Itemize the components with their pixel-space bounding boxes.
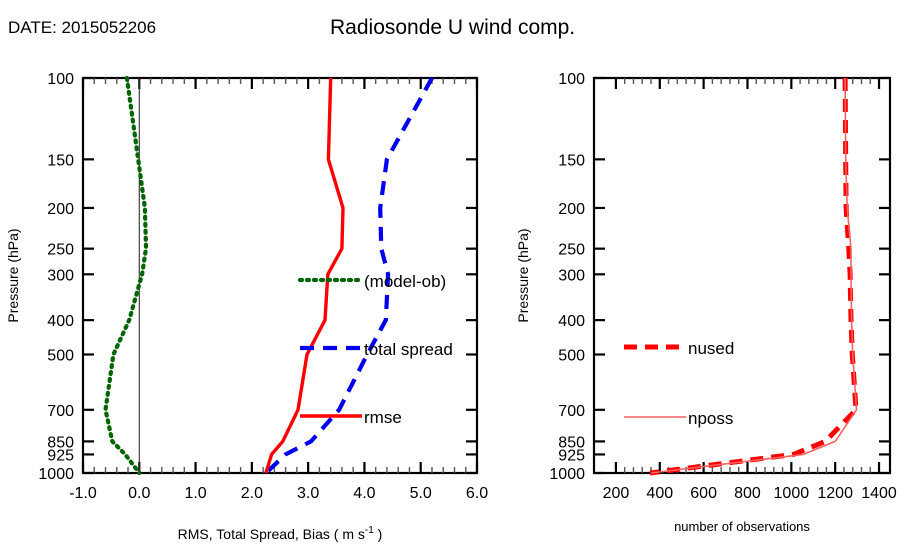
y-tick-label: 400 bbox=[47, 313, 74, 330]
x-tick-label: 1400 bbox=[861, 485, 897, 502]
chart-page: DATE: 2015052206 Radiosonde U wind comp.… bbox=[0, 0, 900, 560]
legend-label: nused bbox=[688, 339, 734, 358]
y-tick-label: 1000 bbox=[38, 466, 74, 483]
y-tick-label: 100 bbox=[558, 71, 585, 88]
right-x-axis-title: number of observations bbox=[674, 519, 810, 534]
y-tick-label: 200 bbox=[558, 201, 585, 218]
x-tick-label: 800 bbox=[734, 485, 761, 502]
y-tick-label: 150 bbox=[558, 152, 585, 169]
x-tick-label: 2.0 bbox=[241, 485, 263, 502]
y-tick-label: 300 bbox=[558, 267, 585, 284]
x-tick-label: 5.0 bbox=[410, 485, 432, 502]
y-tick-label: 925 bbox=[558, 447, 585, 464]
x-tick-label: 6.0 bbox=[466, 485, 488, 502]
legend: nusednposs bbox=[624, 339, 734, 428]
legend: (model-ob)total spreadrmse bbox=[300, 272, 453, 427]
y-tick-label: 150 bbox=[47, 152, 74, 169]
x-tick-label: 3.0 bbox=[297, 485, 319, 502]
right-panel-counts-series-group bbox=[650, 78, 857, 473]
x-tick-label: 4.0 bbox=[353, 485, 375, 502]
observation-count-panel: 2004006008001000120014001001502002503004… bbox=[515, 71, 897, 502]
y-axis-title: Pressure (hPa) bbox=[5, 228, 21, 322]
x-tick-label: -1.0 bbox=[69, 485, 97, 502]
y-tick-label: 700 bbox=[558, 403, 585, 420]
y-tick-label: 500 bbox=[558, 348, 585, 365]
y-tick-label: 300 bbox=[47, 267, 74, 284]
y-tick-label: 500 bbox=[47, 348, 74, 365]
x-tick-label: 600 bbox=[690, 485, 717, 502]
y-tick-label: 700 bbox=[47, 403, 74, 420]
y-tick-label: 100 bbox=[47, 71, 74, 88]
legend-label: nposs bbox=[688, 409, 733, 428]
legend-label: rmse bbox=[364, 408, 402, 427]
x-tick-label: 1000 bbox=[774, 485, 810, 502]
series-rmse bbox=[266, 78, 343, 473]
series-nposs bbox=[651, 78, 857, 473]
series--model-ob- bbox=[106, 78, 147, 473]
x-tick-label: 400 bbox=[646, 485, 673, 502]
y-tick-label: 250 bbox=[47, 242, 74, 259]
x-axis-title: RMS, Total Spread, Bias ( m s-1 ) bbox=[178, 525, 383, 542]
series-nused bbox=[650, 78, 856, 473]
legend-label: (model-ob) bbox=[364, 272, 446, 291]
x-axis-title: number of observations bbox=[674, 519, 810, 534]
y-axis-title: Pressure (hPa) bbox=[515, 228, 531, 322]
y-tick-label: 400 bbox=[558, 313, 585, 330]
y-tick-label: 1000 bbox=[549, 466, 585, 483]
y-tick-label: 250 bbox=[558, 242, 585, 259]
x-tick-label: 1200 bbox=[817, 485, 853, 502]
y-tick-label: 200 bbox=[47, 201, 74, 218]
x-tick-label: 0.0 bbox=[128, 485, 150, 502]
legend-label: total spread bbox=[364, 340, 453, 359]
y-tick-label: 925 bbox=[47, 447, 74, 464]
x-tick-label: 200 bbox=[603, 485, 630, 502]
x-tick-label: 1.0 bbox=[184, 485, 206, 502]
chart-svg: -1.00.01.02.03.04.05.06.0100150200250300… bbox=[0, 0, 900, 560]
